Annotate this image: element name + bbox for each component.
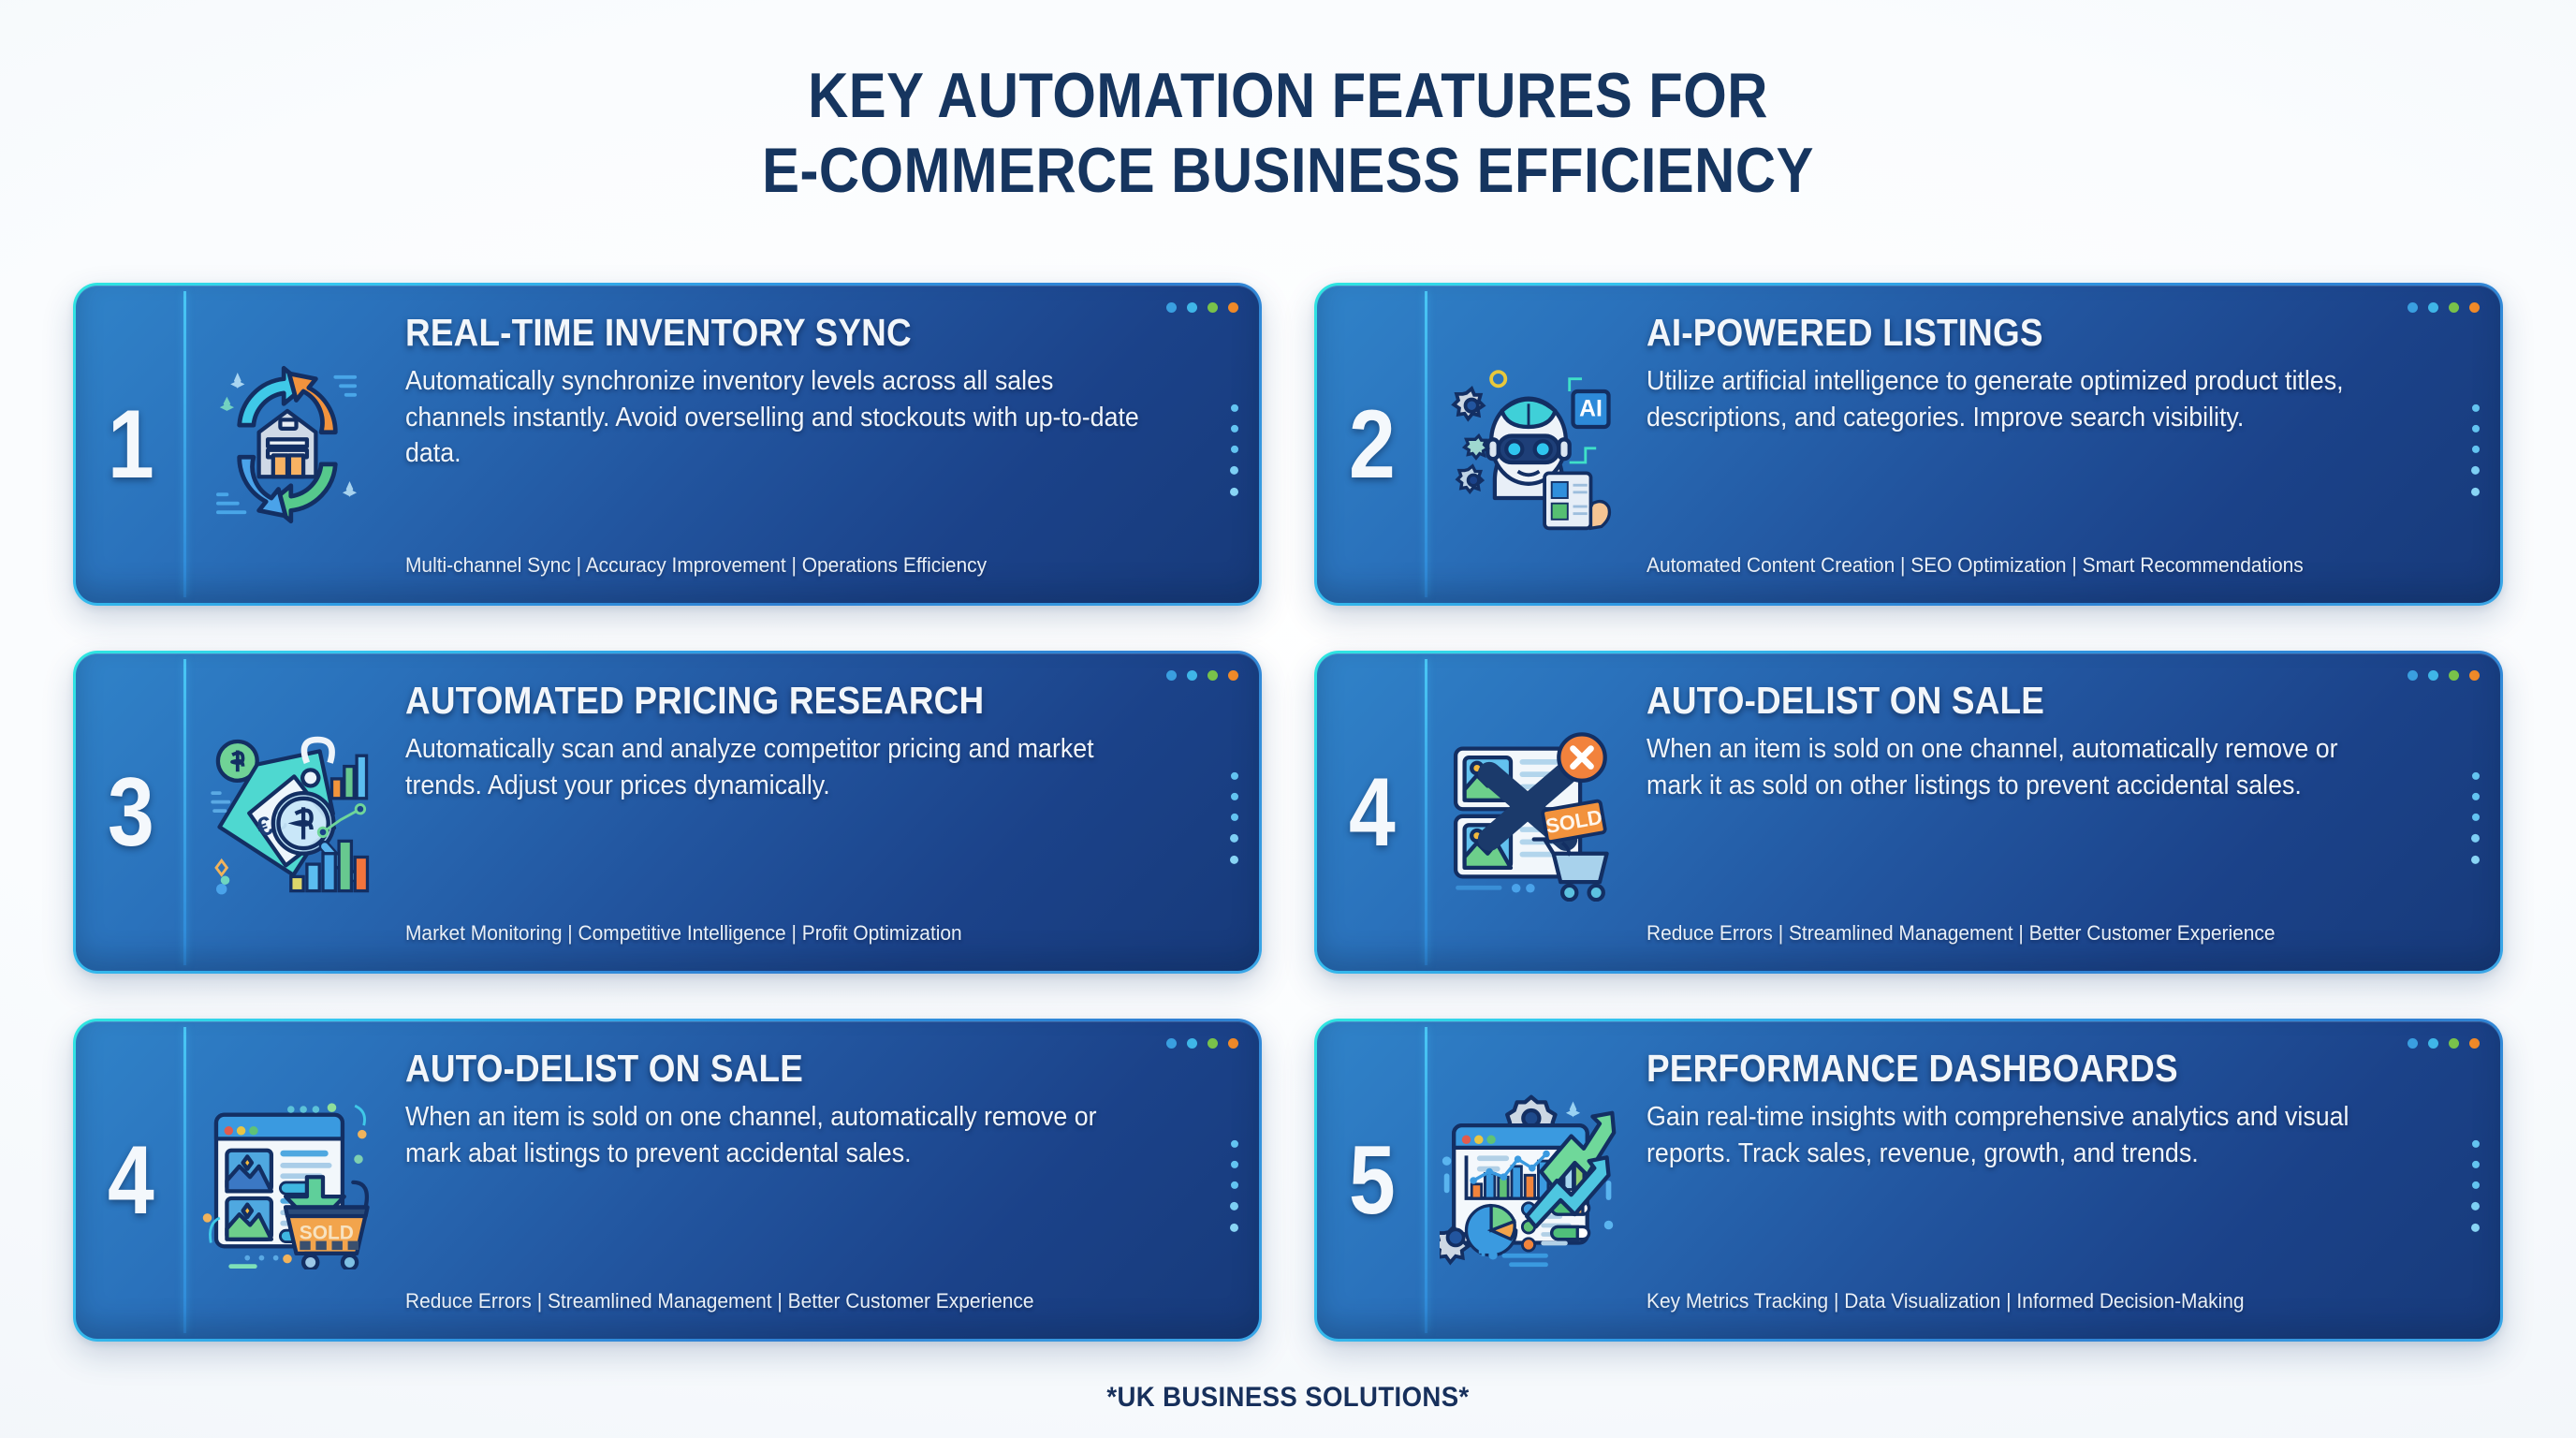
card-body: REAL-TIME INVENTORY SYNC Automatically s… [381, 286, 1259, 603]
card-description: Gain real-time insights with comprehensi… [1647, 1099, 2391, 1172]
card-body: AUTO-DELIST ON SALE When an item is sold… [1622, 653, 2500, 971]
card-number-column: 1 [76, 286, 186, 603]
card-number: 3 [108, 764, 154, 861]
card-title: AUTO-DELIST ON SALE [1647, 682, 2359, 721]
card-description: Automatically synchronize inventory leve… [405, 363, 1149, 472]
card-number-column: 4 [76, 1021, 186, 1339]
corner-dots [1166, 302, 1238, 313]
side-dots [1230, 404, 1238, 495]
card-number: 5 [1349, 1132, 1396, 1229]
card-number-column: 3 [76, 653, 186, 971]
card-tags: Key Metrics Tracking | Data Visualizatio… [1647, 1275, 2383, 1314]
card-description: When an item is sold on one channel, aut… [405, 1099, 1149, 1172]
side-dots [2471, 404, 2480, 495]
card-title: PERFORMANCE DASHBOARDS [1647, 1049, 2359, 1089]
price-tag-research-icon: €£ [186, 653, 381, 971]
card-body: AI-POWERED LISTINGS Utilize artificial i… [1622, 286, 2500, 603]
card-tags: Multi-channel Sync | Accuracy Improvemen… [405, 539, 1142, 579]
side-dots [2471, 771, 2480, 863]
feature-card-5[interactable]: 4 [73, 1019, 1262, 1342]
corner-dots [2408, 302, 2480, 313]
feature-card-2[interactable]: 2 AI [1314, 283, 2503, 606]
card-description: Automatically scan and analyze competito… [405, 731, 1149, 804]
card-number: 2 [1349, 396, 1396, 493]
card-title: REAL-TIME INVENTORY SYNC [405, 314, 1118, 353]
card-title: AUTOMATED PRICING RESEARCH [405, 682, 1118, 721]
feature-card-6[interactable]: 5 [1314, 1019, 2503, 1342]
side-dots [1230, 1139, 1238, 1231]
corner-dots [2408, 670, 2480, 681]
feature-card-4[interactable]: 4 [1314, 651, 2503, 974]
page-title: KEY AUTOMATION FEATURES FOR E-COMMERCE B… [0, 0, 2576, 208]
card-number-column: 5 [1317, 1021, 1427, 1339]
card-number-column: 2 [1317, 286, 1427, 603]
card-title: AUTO-DELIST ON SALE [405, 1049, 1118, 1089]
card-description: When an item is sold on one channel, aut… [1647, 731, 2391, 804]
performance-dashboard-icon [1427, 1021, 1622, 1339]
svg-text:AI: AI [1579, 396, 1603, 421]
card-tags: Reduce Errors | Streamlined Management |… [405, 1275, 1142, 1314]
card-number: 4 [1349, 764, 1396, 861]
feature-card-1[interactable]: 1 [73, 283, 1262, 606]
corner-dots [2408, 1038, 2480, 1049]
card-number-column: 4 [1317, 653, 1427, 971]
card-number: 1 [108, 396, 154, 493]
side-dots [1230, 771, 1238, 863]
footer-brand: *UK BUSINESS SOLUTIONS* [103, 1382, 2473, 1414]
ai-robot-icon: AI [1427, 286, 1622, 603]
svg-text:SOLD: SOLD [300, 1222, 354, 1243]
delist-cross-cart-icon: SOLD [1427, 653, 1622, 971]
card-tags: Reduce Errors | Streamlined Management |… [1647, 907, 2383, 946]
card-tags: Market Monitoring | Competitive Intellig… [405, 907, 1142, 946]
card-body: PERFORMANCE DASHBOARDS Gain real-time in… [1622, 1021, 2500, 1339]
corner-dots [1166, 1038, 1238, 1049]
card-body: AUTOMATED PRICING RESEARCH Automatically… [381, 653, 1259, 971]
card-description: Utilize artificial intelligence to gener… [1647, 363, 2391, 436]
page-title-line-1: KEY AUTOMATION FEATURES FOR [154, 58, 2422, 133]
feature-card-3[interactable]: 3 €£ [73, 651, 1262, 974]
feature-card-grid: 1 [73, 283, 2503, 1342]
card-body: AUTO-DELIST ON SALE When an item is sold… [381, 1021, 1259, 1339]
corner-dots [1166, 670, 1238, 681]
inventory-sync-icon [186, 286, 381, 603]
card-title: AI-POWERED LISTINGS [1647, 314, 2359, 353]
card-number: 4 [108, 1132, 154, 1229]
delist-cart-arrow-icon: SOLD [186, 1021, 381, 1339]
card-tags: Automated Content Creation | SEO Optimiz… [1647, 539, 2383, 579]
page-title-line-2: E-COMMERCE BUSINESS EFFICIENCY [154, 133, 2422, 208]
side-dots [2471, 1139, 2480, 1231]
